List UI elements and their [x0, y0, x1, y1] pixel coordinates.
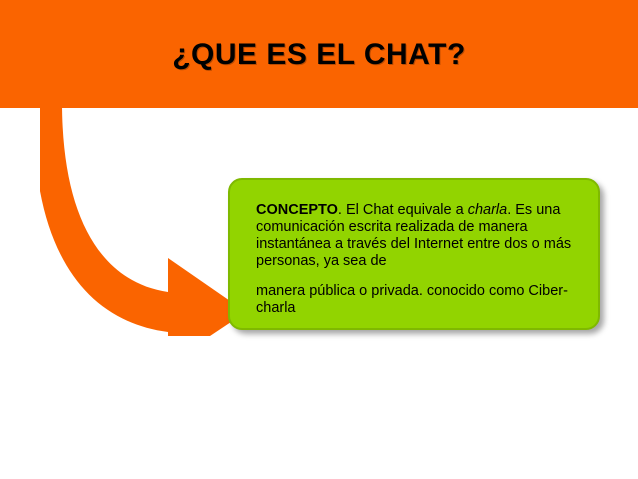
concept-lead-word: CONCEPTO	[256, 202, 338, 218]
title-bar: ¿QUE ES EL CHAT?	[0, 0, 638, 108]
concept-text-after-lead: . El Chat equivale a	[338, 202, 468, 218]
slide-canvas: ¿QUE ES EL CHAT? CONCEPTO. El Chat equiv…	[0, 0, 638, 479]
concept-emphasis-word: charla	[468, 202, 508, 218]
concept-callout-box: CONCEPTO. El Chat equivale a charla. Es …	[228, 178, 600, 330]
page-title: ¿QUE ES EL CHAT?	[0, 38, 638, 72]
concept-callout-content: CONCEPTO. El Chat equivale a charla. Es …	[230, 180, 598, 328]
concept-paragraph-1: CONCEPTO. El Chat equivale a charla. Es …	[256, 202, 576, 270]
concept-paragraph-2: manera pública o privada. conocido como …	[256, 283, 576, 317]
